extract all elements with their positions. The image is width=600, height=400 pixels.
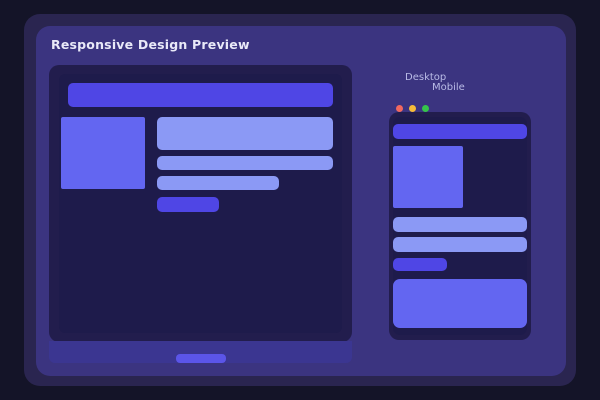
mobile-cta-button[interactable]	[393, 258, 447, 271]
desktop-preview-viewport[interactable]	[59, 74, 342, 333]
desktop-text-line-3	[157, 176, 279, 190]
desktop-image-placeholder	[61, 117, 145, 189]
desktop-cta-button[interactable]	[157, 197, 219, 212]
mobile-text-line-1	[393, 217, 527, 232]
desktop-header-bar	[68, 83, 333, 107]
minimize-dot[interactable]	[409, 105, 416, 112]
page-title: Responsive Design Preview	[51, 37, 250, 52]
mobile-header-bar	[393, 124, 527, 139]
mobile-image-placeholder	[393, 146, 463, 208]
preview-stage: Responsive Design Preview Desktop Mobile	[0, 0, 600, 400]
close-dot[interactable]	[396, 105, 403, 112]
mobile-text-line-2	[393, 237, 527, 252]
window-controls	[396, 105, 429, 112]
mobile-label: Mobile	[432, 82, 465, 93]
maximize-dot[interactable]	[422, 105, 429, 112]
mobile-preview-viewport[interactable]	[393, 117, 527, 335]
laptop-trackpad-notch	[176, 354, 226, 363]
mobile-card-block	[393, 279, 527, 328]
desktop-text-line-1	[157, 117, 333, 150]
desktop-text-line-2	[157, 156, 333, 170]
